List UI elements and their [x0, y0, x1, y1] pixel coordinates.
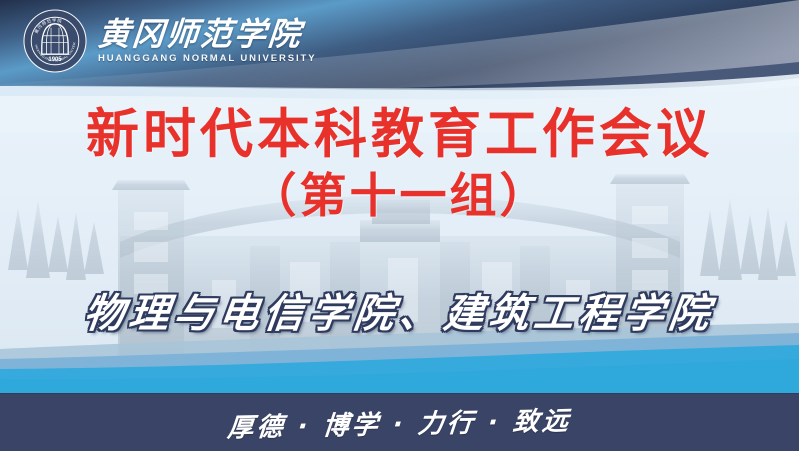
- university-motto: 厚德 · 博学 · 力行 · 致远: [226, 400, 573, 444]
- conference-group-subtitle: （第十一组）: [0, 169, 799, 225]
- university-name-cn: 黄冈师范学院: [97, 18, 318, 52]
- title-block: 新时代本科教育工作会议 （第十一组）: [0, 104, 799, 225]
- conference-title: 新时代本科教育工作会议: [0, 104, 799, 167]
- presentation-slide: 1905 黄冈师范学院 HUANGGANG NORMAL UNIVERSITY …: [0, 0, 799, 451]
- footer-band: 厚德 · 博学 · 力行 · 致远: [0, 393, 799, 451]
- university-logo-lockup: 1905 黄冈师范学院 HUANGGANG NORMAL UNIVERSITY …: [22, 8, 316, 74]
- university-seal-emblem: 1905 黄冈师范学院 HUANGGANG NORMAL UNIVERSITY: [22, 8, 88, 74]
- university-name-en: HUANGGANG NORMAL UNIVERSITY: [98, 53, 316, 64]
- logo-wordmark: 黄冈师范学院 HUANGGANG NORMAL UNIVERSITY: [98, 18, 316, 65]
- colleges-line: 物理与电信学院、建筑工程学院: [0, 281, 799, 339]
